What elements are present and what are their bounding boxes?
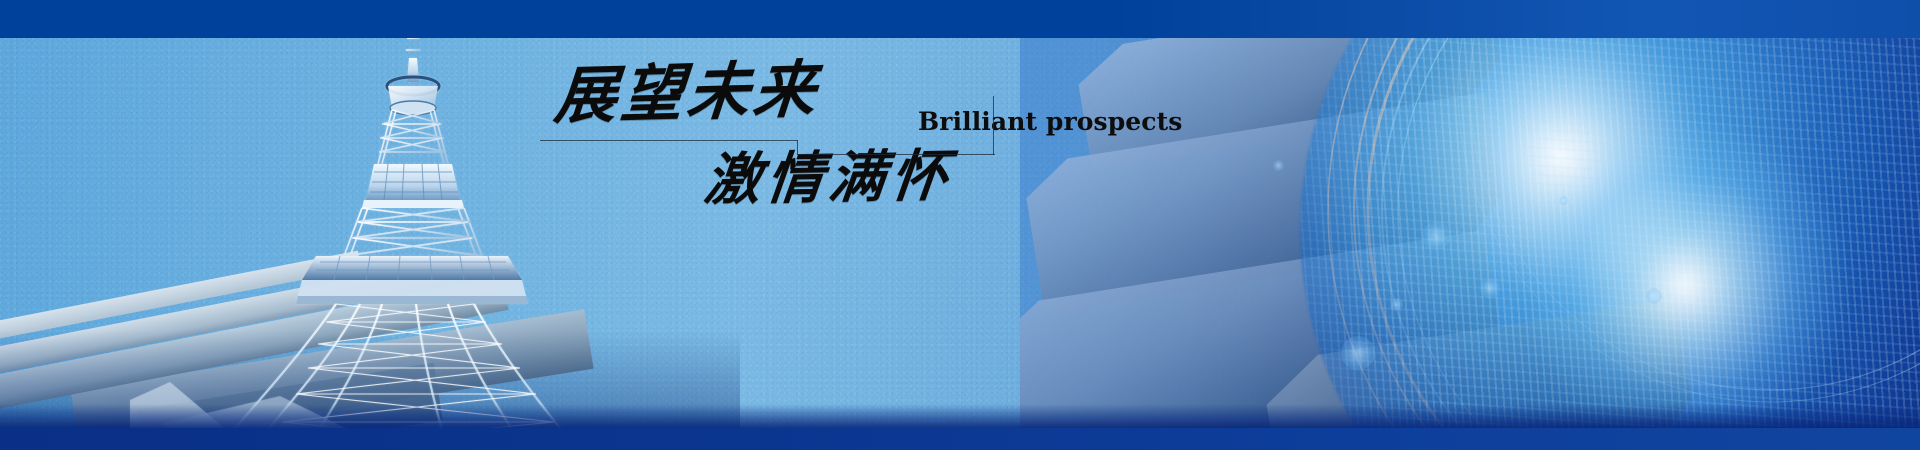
divider-rule-long [540,140,798,141]
divider-rule-vertical-left [797,140,798,155]
globe-highlight [1520,120,1850,450]
bottom-frame-bar [0,428,1920,450]
headline-chinese-line-1: 展望未来 [552,59,822,128]
headline-chinese-line-2: 激情满怀 [702,148,956,208]
headline-block: 展望未来 激情满怀 Brilliant prospects [535,58,1035,228]
top-frame-bar [0,0,1920,38]
headline-english: Brilliant prospects [918,107,1182,136]
divider-rule-middle [797,154,995,155]
bottom-gradient-fade [0,404,1920,428]
divider-rule-vertical-right [993,96,994,155]
corporate-banner: 展望未来 激情满怀 Brilliant prospects [0,0,1920,450]
